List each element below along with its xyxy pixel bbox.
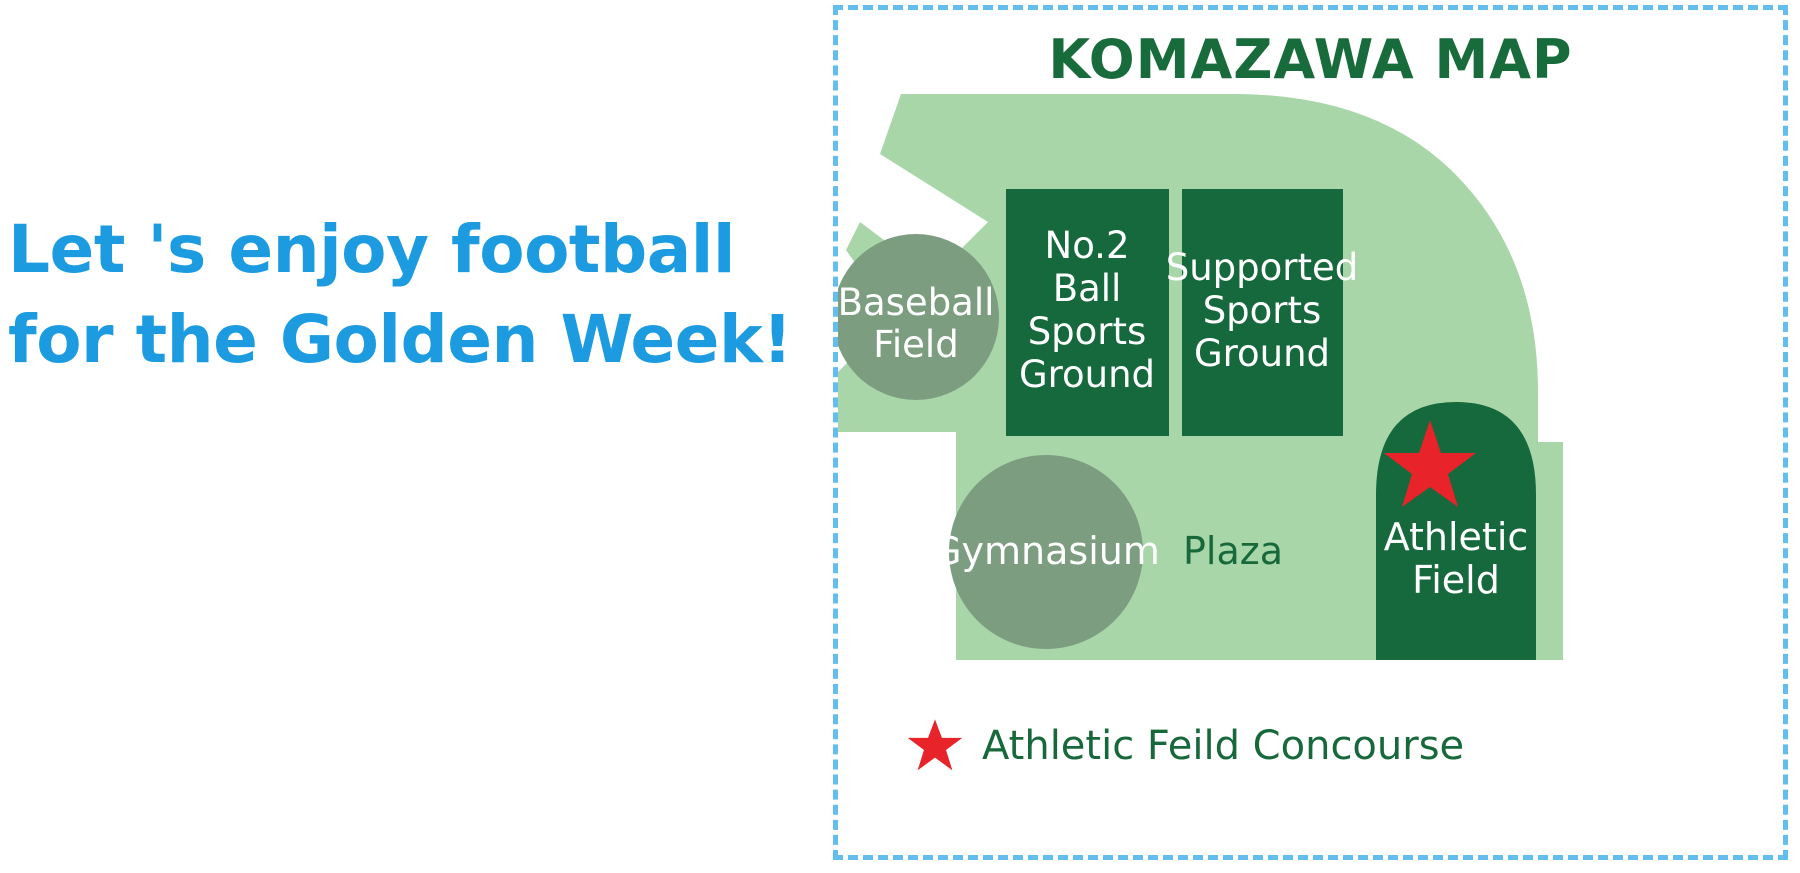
ball-sports-label-line2: Ball — [1053, 267, 1122, 310]
baseball-field-area[interactable]: Baseball Field — [838, 234, 999, 400]
plaza-area[interactable]: Plaza — [1183, 529, 1283, 573]
komazawa-map-panel: KOMAZAWA MAP Baseball Field No.2 Ball Sp… — [833, 5, 1788, 860]
plaza-label: Plaza — [1183, 529, 1283, 573]
ball-sports-label-line1: No.2 — [1045, 224, 1130, 267]
athletic-field-label-line2: Field — [1412, 558, 1500, 602]
baseball-field-label-line1: Baseball — [838, 281, 994, 324]
star-icon — [906, 717, 964, 775]
ball-sports-label-line3: Sports — [1028, 310, 1147, 353]
baseball-field-label-line2: Field — [873, 323, 958, 366]
supported-sports-label-line2: Sports — [1203, 289, 1322, 332]
gymnasium-label: Gymnasium — [932, 529, 1160, 573]
headline-line-2: for the Golden Week! — [8, 295, 708, 385]
map-legend: Athletic Feild Concourse — [906, 717, 1464, 775]
headline-line-1: Let 's enjoy football — [8, 205, 708, 295]
ball-sports-label-line4: Ground — [1019, 353, 1155, 396]
promo-headline: Let 's enjoy football for the Golden Wee… — [8, 205, 708, 385]
athletic-field-label-line1: Athletic — [1384, 515, 1529, 559]
map-canvas: Baseball Field No.2 Ball Sports Ground S… — [838, 72, 1793, 672]
legend-label: Athletic Feild Concourse — [982, 723, 1464, 769]
supported-sports-label-line3: Ground — [1194, 332, 1330, 375]
supported-sports-ground-area[interactable]: Supported Sports Ground — [1166, 189, 1359, 436]
ball-sports-ground-area[interactable]: No.2 Ball Sports Ground — [1006, 189, 1169, 436]
athletic-field-area[interactable]: Athletic Field — [1376, 402, 1536, 660]
supported-sports-label-line1: Supported — [1166, 246, 1359, 289]
